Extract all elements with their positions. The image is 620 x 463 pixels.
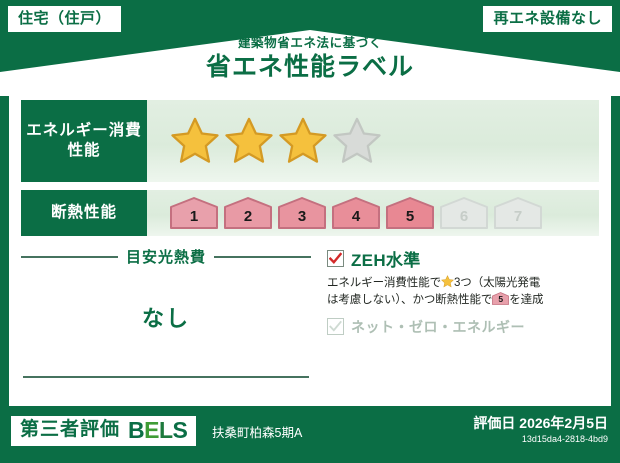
rule-right — [214, 256, 311, 258]
insulation-performance-value: 1234567 — [147, 190, 599, 236]
insulation-level-value: 4 — [352, 209, 360, 230]
insulation-level-2: 2 — [223, 196, 273, 230]
star-icon-filled — [277, 116, 329, 166]
net-zero-energy-row: ネット・ゼロ・エネルギー — [327, 317, 599, 337]
zeh-desc-part1: エネルギー消費性能で — [327, 277, 441, 289]
title-subtitle: 建築物省エネ法に基づく — [0, 36, 620, 51]
star-icon-filled — [169, 116, 221, 166]
site-name: 扶桑町柏森5期A — [212, 426, 302, 441]
zeh-block: ZEH水準 エネルギー消費性能で3つ（太陽光発電 は考慮しない）、かつ断熱性能で… — [327, 246, 599, 337]
energy-performance-value — [147, 100, 599, 182]
inline-star-icon — [441, 275, 454, 288]
badge-building-type: 住宅（住戸） — [8, 6, 121, 32]
insulation-level-value: 7 — [514, 209, 522, 230]
badge-renewable-equipment: 再エネ設備なし — [483, 6, 612, 32]
energy-performance-row: エネルギー消費性能 — [21, 100, 599, 182]
insulation-level-scale: 1234567 — [169, 196, 543, 230]
lower-section: 目安光熱費 なし ZEH水準 エネルギー消費性能で3つ（太陽光発電 — [21, 246, 599, 392]
zeh-checkbox[interactable] — [327, 250, 344, 267]
zeh-description: エネルギー消費性能で3つ（太陽光発電 は考慮しない）、かつ断熱性能で5を達成 — [327, 275, 599, 310]
energy-performance-label-key: エネルギー消費性能 — [21, 100, 147, 182]
star-rating — [169, 116, 383, 166]
evaluation-meta: 評価日 2026年2月5日 13d15da4-2818-4bd9 — [473, 415, 608, 445]
insulation-level-value: 6 — [460, 209, 468, 230]
insulation-level-5: 5 — [385, 196, 435, 230]
bels-letter-b: B — [128, 417, 144, 443]
page-title: 省エネ性能ラベル — [0, 53, 620, 82]
insulation-performance-label-key: 断熱性能 — [21, 190, 147, 236]
bels-letter-e: E — [144, 417, 159, 443]
insulation-level-value: 2 — [244, 209, 252, 230]
utility-cost-title: 目安光熱費 — [126, 246, 206, 267]
insulation-level-value: 5 — [406, 209, 414, 230]
utility-cost-header: 目安光熱費 — [21, 246, 311, 267]
energy-performance-label: 住宅（住戸） 再エネ設備なし 建築物省エネ法に基づく 省エネ性能ラベル エネルギ… — [0, 0, 620, 463]
zeh-title: ZEH水準 — [351, 246, 421, 271]
insulation-performance-row: 断熱性能 1234567 — [21, 190, 599, 236]
zeh-header: ZEH水準 — [327, 246, 599, 271]
third-party-evaluation-label: 第三者評価 — [20, 420, 120, 441]
zeh-desc-part2: は考慮しない）、かつ断熱性能で — [327, 294, 492, 306]
inline-insulation-badge: 5 — [492, 292, 509, 305]
insulation-level-4: 4 — [331, 196, 381, 230]
insulation-level-6: 6 — [439, 196, 489, 230]
document-id: 13d15da4-2818-4bd9 — [473, 434, 608, 446]
insulation-level-value: 3 — [298, 209, 306, 230]
insulation-level-value: 1 — [190, 209, 198, 230]
title-block: 建築物省エネ法に基づく 省エネ性能ラベル — [0, 36, 620, 82]
zeh-desc-part3: を達成 — [509, 294, 543, 306]
bels-logo: 第三者評価 BELS — [11, 416, 196, 446]
check-icon-disabled — [329, 320, 342, 333]
rule-left — [21, 256, 118, 258]
bels-letter-s: S — [173, 417, 188, 443]
star-icon-empty — [331, 116, 383, 166]
utility-cost-value: なし — [21, 301, 311, 333]
insulation-level-7: 7 — [493, 196, 543, 230]
insulation-level-3: 3 — [277, 196, 327, 230]
check-icon — [329, 252, 342, 265]
utility-cost-bottom-rule — [23, 376, 309, 378]
net-zero-energy-label: ネット・ゼロ・エネルギー — [351, 317, 525, 337]
bels-wordmark: BELS — [128, 419, 187, 442]
evaluation-date: 評価日 2026年2月5日 — [473, 415, 608, 433]
zeh-desc-stars: 3つ（太陽光発電 — [454, 277, 540, 289]
utility-cost-block: 目安光熱費 なし — [21, 246, 311, 392]
footer-bar: 第三者評価 BELS 扶桑町柏森5期A 評価日 2026年2月5日 13d15d… — [0, 406, 620, 463]
bels-letter-l: L — [159, 417, 173, 443]
inline-insulation-badge-value: 5 — [492, 292, 509, 305]
net-zero-energy-checkbox[interactable] — [327, 318, 344, 335]
label-card: エネルギー消費性能 断熱性能 1234567 目安光熱費 なし — [9, 88, 611, 406]
insulation-level-1: 1 — [169, 196, 219, 230]
star-icon-filled — [223, 116, 275, 166]
